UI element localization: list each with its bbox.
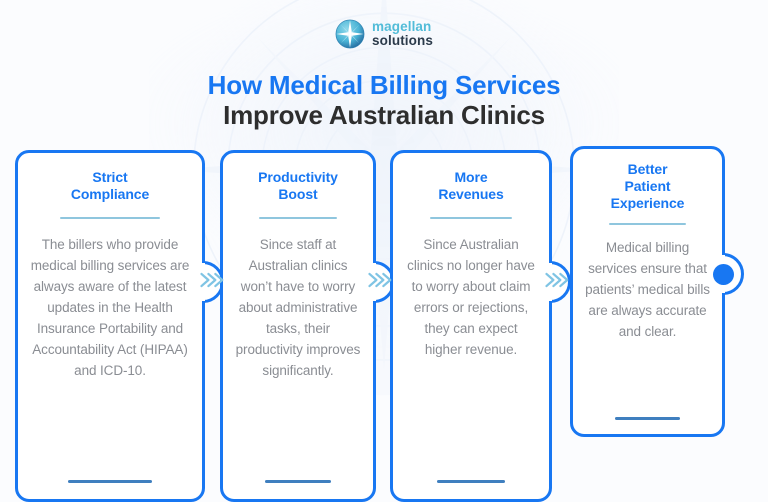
card-strict-compliance[interactable]: Strict Compliance The billers who provid…: [15, 150, 205, 502]
card-title-line2: Compliance: [71, 186, 149, 202]
card-title-line2: Revenues: [438, 186, 503, 202]
card-title-line1: Strict: [92, 169, 127, 185]
card-title-divider: [60, 217, 159, 219]
cards-band: Strict Compliance The billers who provid…: [0, 146, 768, 502]
brand-name-line1: magellan: [372, 20, 433, 34]
card-bottom-divider: [615, 417, 680, 420]
brand-logo: magellan solutions: [0, 14, 768, 54]
brand-name-line2: solutions: [372, 34, 433, 48]
connector-chevron-3: [543, 268, 569, 292]
card-bottom-divider: [265, 480, 331, 483]
card-title: Strict Compliance: [71, 169, 149, 203]
card-title-line1: Better: [628, 161, 668, 177]
page-title-line1: How Medical Billing Services: [0, 70, 768, 100]
card-productivity-boost[interactable]: Productivity Boost Since staff at Austra…: [220, 150, 376, 502]
card-title-divider: [259, 217, 337, 219]
page-title: How Medical Billing Services Improve Aus…: [0, 70, 768, 130]
compass-rose-icon: [335, 19, 365, 49]
card-better-patient-experience[interactable]: Better Patient Experience Medical billin…: [570, 146, 725, 437]
card-title: Productivity Boost: [258, 169, 338, 203]
page-title-line2: Improve Australian Clinics: [0, 100, 768, 130]
connector-chevron-2: [366, 268, 392, 292]
card-title-divider: [609, 223, 687, 225]
connector-chevron-1: [198, 268, 224, 292]
card-title-line1: More: [454, 169, 487, 185]
card-title-divider: [430, 217, 512, 219]
card-bottom-divider: [437, 480, 506, 483]
card-body-text: The billers who provide medical billing …: [30, 235, 190, 381]
card-body-text: Since Australian clinics no longer have …: [405, 235, 537, 361]
page-header: magellan solutions How Medical Billing S…: [0, 0, 768, 130]
card-body-text: Since staff at Australian clinics won’t …: [235, 235, 361, 381]
card-title-line3: Experience: [611, 195, 685, 211]
card-title: More Revenues: [438, 169, 503, 203]
filled-circle-icon: [713, 264, 734, 285]
brand-wordmark: magellan solutions: [372, 20, 433, 48]
card-title-line1: Productivity: [258, 169, 338, 185]
card-bottom-divider: [68, 480, 151, 483]
card-more-revenues[interactable]: More Revenues Since Australian clinics n…: [390, 150, 552, 502]
card-title: Better Patient Experience: [611, 161, 685, 212]
card-title-line2: Boost: [278, 186, 317, 202]
card-title-line2: Patient: [625, 178, 671, 194]
card-body-text: Medical billing services ensure that pat…: [585, 238, 710, 343]
